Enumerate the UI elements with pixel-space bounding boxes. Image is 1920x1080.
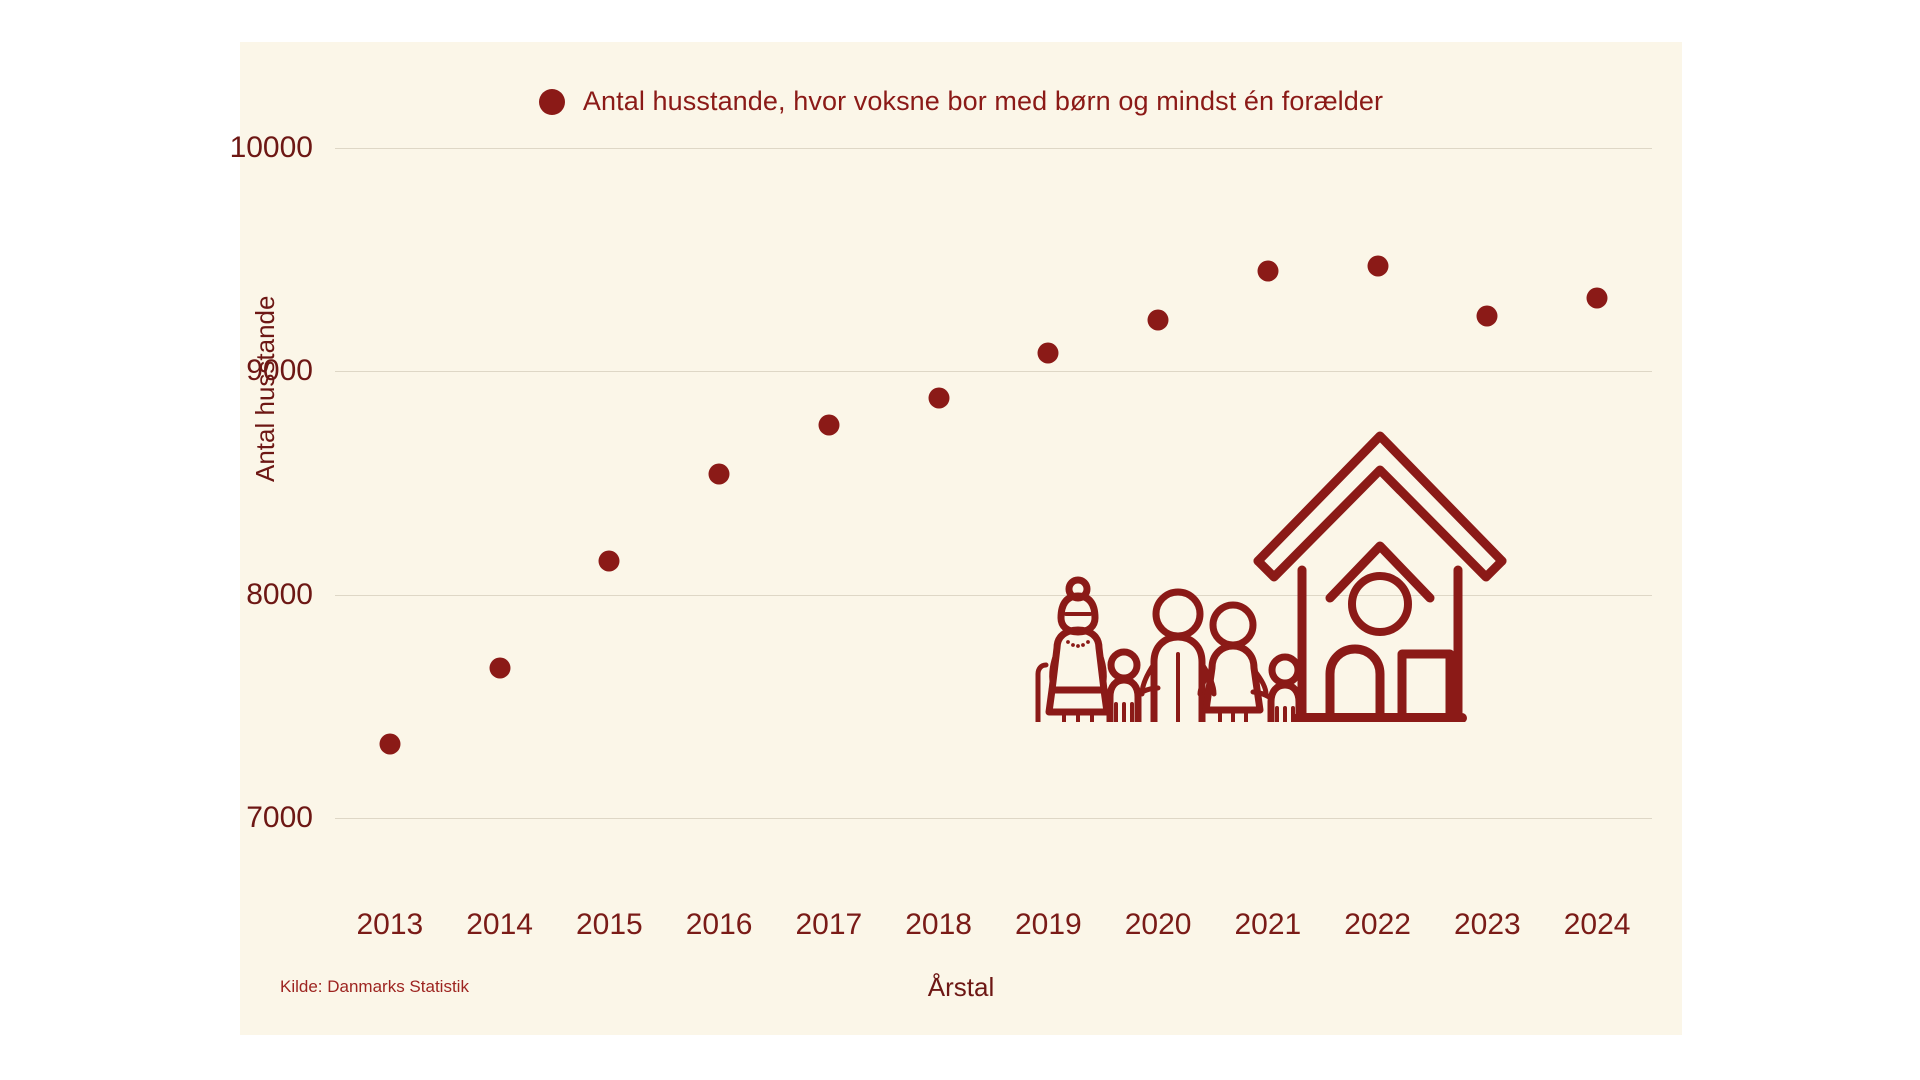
data-point[interactable] xyxy=(1257,260,1278,281)
x-axis-tick-label: 2023 xyxy=(1454,908,1521,942)
data-point[interactable] xyxy=(709,464,730,485)
y-axis-tick-label: 7000 xyxy=(246,801,313,835)
y-axis-title: Antal husstande xyxy=(250,296,281,482)
chart-legend: Antal husstande, hvor voksne bor med bør… xyxy=(240,42,1682,117)
chart-card: Antal husstande, hvor voksne bor med bør… xyxy=(240,42,1682,1035)
y-gridline xyxy=(335,818,1652,819)
data-point[interactable] xyxy=(818,414,839,435)
data-point[interactable] xyxy=(599,551,620,572)
x-axis-tick-label: 2015 xyxy=(576,908,643,942)
x-axis-tick-label: 2014 xyxy=(466,908,533,942)
legend-item[interactable]: Antal husstande, hvor voksne bor med bør… xyxy=(539,86,1383,117)
legend-marker-icon xyxy=(539,89,565,115)
data-point[interactable] xyxy=(1367,256,1388,277)
legend-label: Antal husstande, hvor voksne bor med bør… xyxy=(583,86,1383,117)
data-point[interactable] xyxy=(1477,305,1498,326)
y-axis-tick-label: 9000 xyxy=(246,354,313,388)
plot-area: 7000800090001000020132014201520162017201… xyxy=(335,148,1652,818)
data-point[interactable] xyxy=(1038,343,1059,364)
page-root: Antal husstande, hvor voksne bor med bør… xyxy=(0,0,1920,1080)
data-point[interactable] xyxy=(1587,287,1608,308)
y-axis-tick-label: 10000 xyxy=(230,131,313,165)
x-axis-tick-label: 2024 xyxy=(1564,908,1631,942)
x-axis-tick-label: 2022 xyxy=(1344,908,1411,942)
x-axis-tick-label: 2021 xyxy=(1235,908,1302,942)
y-axis-tick-label: 8000 xyxy=(246,578,313,612)
x-axis-tick-label: 2018 xyxy=(905,908,972,942)
y-gridline xyxy=(335,148,1652,149)
x-axis-tick-label: 2017 xyxy=(796,908,863,942)
x-axis-tick-label: 2016 xyxy=(686,908,753,942)
y-gridline xyxy=(335,371,1652,372)
data-point[interactable] xyxy=(928,388,949,409)
data-point[interactable] xyxy=(379,734,400,755)
y-gridline xyxy=(335,595,1652,596)
x-axis-tick-label: 2019 xyxy=(1015,908,1082,942)
x-axis-tick-label: 2020 xyxy=(1125,908,1192,942)
x-axis-tick-label: 2013 xyxy=(357,908,424,942)
data-point[interactable] xyxy=(489,658,510,679)
data-point[interactable] xyxy=(1148,309,1169,330)
source-note: Kilde: Danmarks Statistik xyxy=(280,977,469,997)
